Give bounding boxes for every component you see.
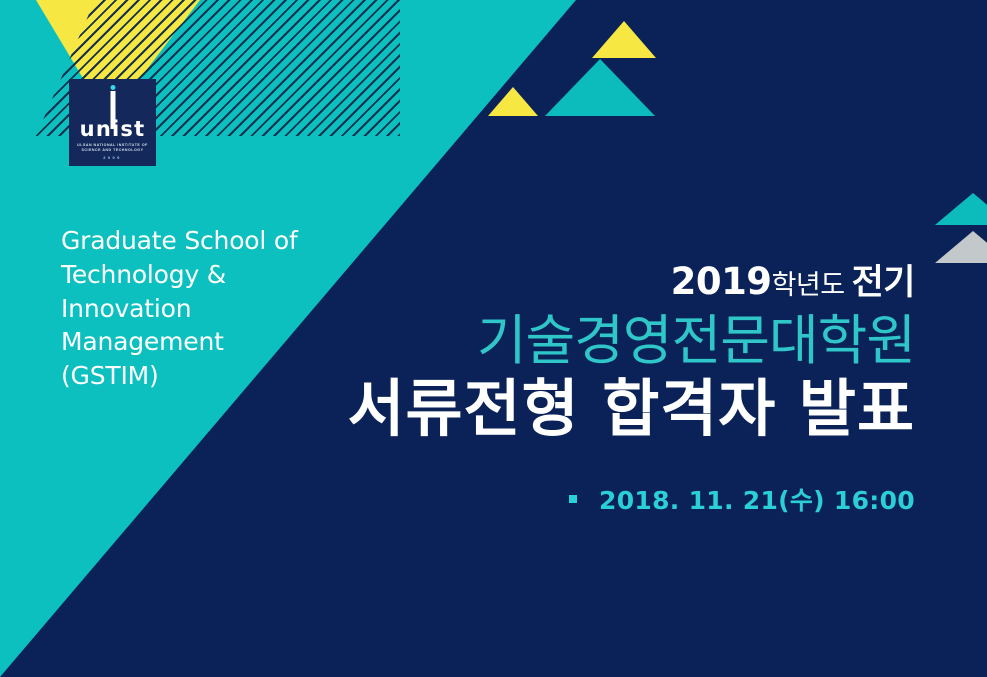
school-name-line-1: Graduate School of xyxy=(61,224,331,258)
announcement-datetime-text: 2018. 11. 21(수) 16:00 xyxy=(599,481,915,517)
logo-pillar-icon xyxy=(110,91,115,129)
academic-year-suffix: 학년도 xyxy=(772,270,845,301)
logo-dot-icon xyxy=(110,85,115,90)
edge-teal-triangle-icon xyxy=(935,190,987,225)
announcement-datetime: 2018. 11. 21(수) 16:00 xyxy=(347,481,915,517)
square-bullet-icon xyxy=(569,495,577,503)
teal-triangle-icon xyxy=(545,56,655,116)
small-yellow-triangle-icon xyxy=(488,84,538,116)
announcement-block: 2019학년도전기 기술경영전문대학원 서류전형 합격자 발표 2018. 11… xyxy=(347,262,915,517)
edge-gray-triangle-icon xyxy=(935,228,987,263)
department-name: 기술경영전문대학원 xyxy=(347,311,915,371)
school-name-line-3: Innovation xyxy=(61,292,331,326)
poster-canvas: unist ULSAN NATIONAL INSTITUTE OF SCIENC… xyxy=(0,0,987,677)
school-name-line-5: (GSTIM) xyxy=(61,359,331,393)
academic-term: 전기 xyxy=(852,263,915,303)
logo-subtitle-line2: SCIENCE AND TECHNOLOGY xyxy=(74,148,152,153)
page-title: 서류전형 합격자 발표 xyxy=(347,371,915,447)
school-name-line-2: Technology & xyxy=(61,258,331,292)
school-name-block: Graduate School of Technology & Innovati… xyxy=(61,224,331,393)
academic-year-line: 2019학년도전기 xyxy=(347,262,915,303)
school-name-line-4: Management xyxy=(61,325,331,359)
academic-year-number: 2019 xyxy=(671,260,772,303)
yellow-triangle-icon xyxy=(592,18,656,58)
unist-logo: unist ULSAN NATIONAL INSTITUTE OF SCIENC… xyxy=(69,79,156,166)
logo-year: 2009 xyxy=(103,155,122,160)
